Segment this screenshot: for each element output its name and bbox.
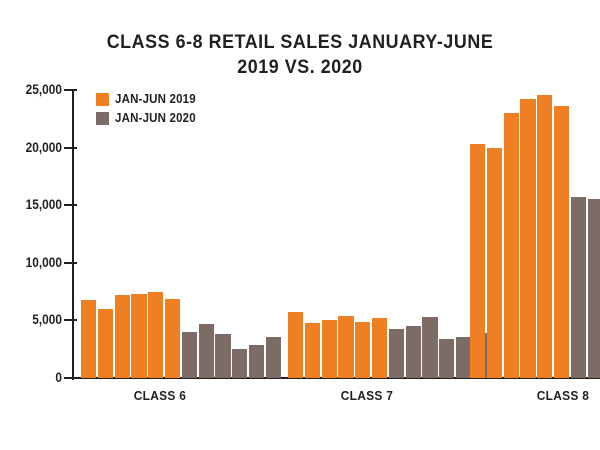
y-tick-label-15000: 15,000 (11, 197, 62, 212)
bar (588, 199, 600, 378)
bar (470, 144, 485, 378)
bar (98, 309, 113, 378)
bar (165, 299, 180, 378)
plot-area: 05,00010,00015,00020,00025,000 CLASS 6CL… (0, 0, 600, 450)
bar (406, 326, 421, 378)
y-axis-line (72, 90, 74, 380)
bar (266, 337, 281, 378)
bar (487, 148, 502, 378)
bar (504, 113, 519, 378)
bar (537, 95, 552, 378)
group-label-class-6: CLASS 6 (114, 388, 206, 403)
y-tick-label-20000: 20,000 (11, 140, 62, 155)
bar (182, 332, 197, 378)
bar (199, 324, 214, 378)
bar (422, 317, 437, 378)
bar (81, 300, 96, 378)
bar (215, 334, 230, 378)
group-label-class-8: CLASS 8 (517, 388, 600, 403)
bar (389, 329, 404, 378)
bar (338, 316, 353, 378)
y-tick-15000 (64, 204, 77, 206)
bar (232, 349, 247, 378)
bar (131, 294, 146, 378)
bar (288, 312, 303, 378)
bar (456, 337, 471, 378)
bar (554, 106, 569, 378)
bar (249, 345, 264, 378)
y-tick-5000 (64, 319, 77, 321)
y-tick-0 (64, 377, 77, 379)
bar (115, 295, 130, 378)
y-tick-label-10000: 10,000 (11, 255, 62, 270)
y-tick-label-5000: 5,000 (11, 312, 62, 327)
y-tick-label-0: 0 (11, 370, 62, 385)
bar (305, 323, 320, 378)
y-tick-10000 (64, 262, 77, 264)
bar (439, 339, 454, 378)
bar (148, 292, 163, 378)
group-label-class-7: CLASS 7 (321, 388, 413, 403)
y-tick-20000 (64, 147, 77, 149)
bar (520, 99, 535, 378)
bar (355, 322, 370, 378)
bar (322, 320, 337, 378)
y-tick-25000 (64, 89, 77, 91)
chart-figure: CLASS 6-8 RETAIL SALES JANUARY-JUNE 2019… (0, 0, 600, 450)
y-tick-label-25000: 25,000 (11, 82, 62, 97)
bar (372, 318, 387, 378)
bar (571, 197, 586, 378)
